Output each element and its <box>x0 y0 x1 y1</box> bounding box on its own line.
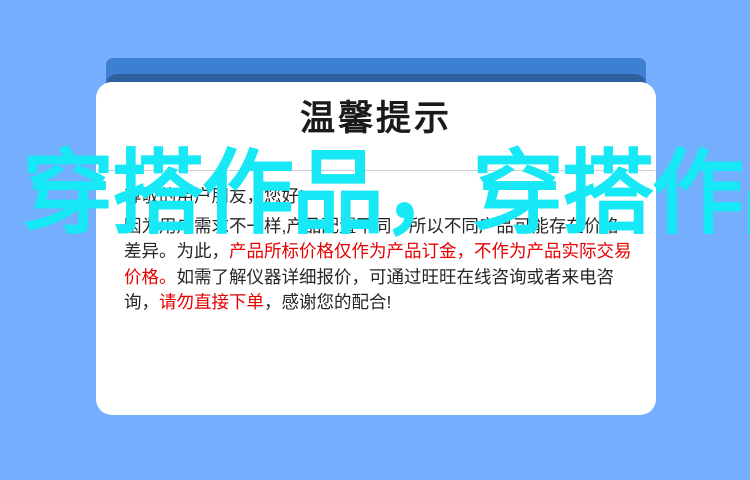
notice-text-part3: ，感谢您的配合! <box>264 292 391 312</box>
notice-card: 温馨提示 尊敬的用户朋友，您好! 因为用户需求不一样,产品配置不同，所以不同产品… <box>96 82 656 415</box>
page-title: 温馨提示 <box>96 100 656 139</box>
notice-body: 尊敬的用户朋友，您好! 因为用户需求不一样,产品配置不同，所以不同产品可能存在价… <box>124 184 632 316</box>
title-divider <box>97 170 655 171</box>
greeting-line: 尊敬的用户朋友，您好! <box>124 184 632 210</box>
notice-paragraph: 因为用户需求不一样,产品配置不同，所以不同产品可能存在价格差异。为此，产品所标价… <box>124 214 632 316</box>
notice-screenshot: 温馨提示 尊敬的用户朋友，您好! 因为用户需求不一样,产品配置不同，所以不同产品… <box>0 0 750 480</box>
notice-highlight-no-order: 请勿直接下单 <box>159 292 264 312</box>
